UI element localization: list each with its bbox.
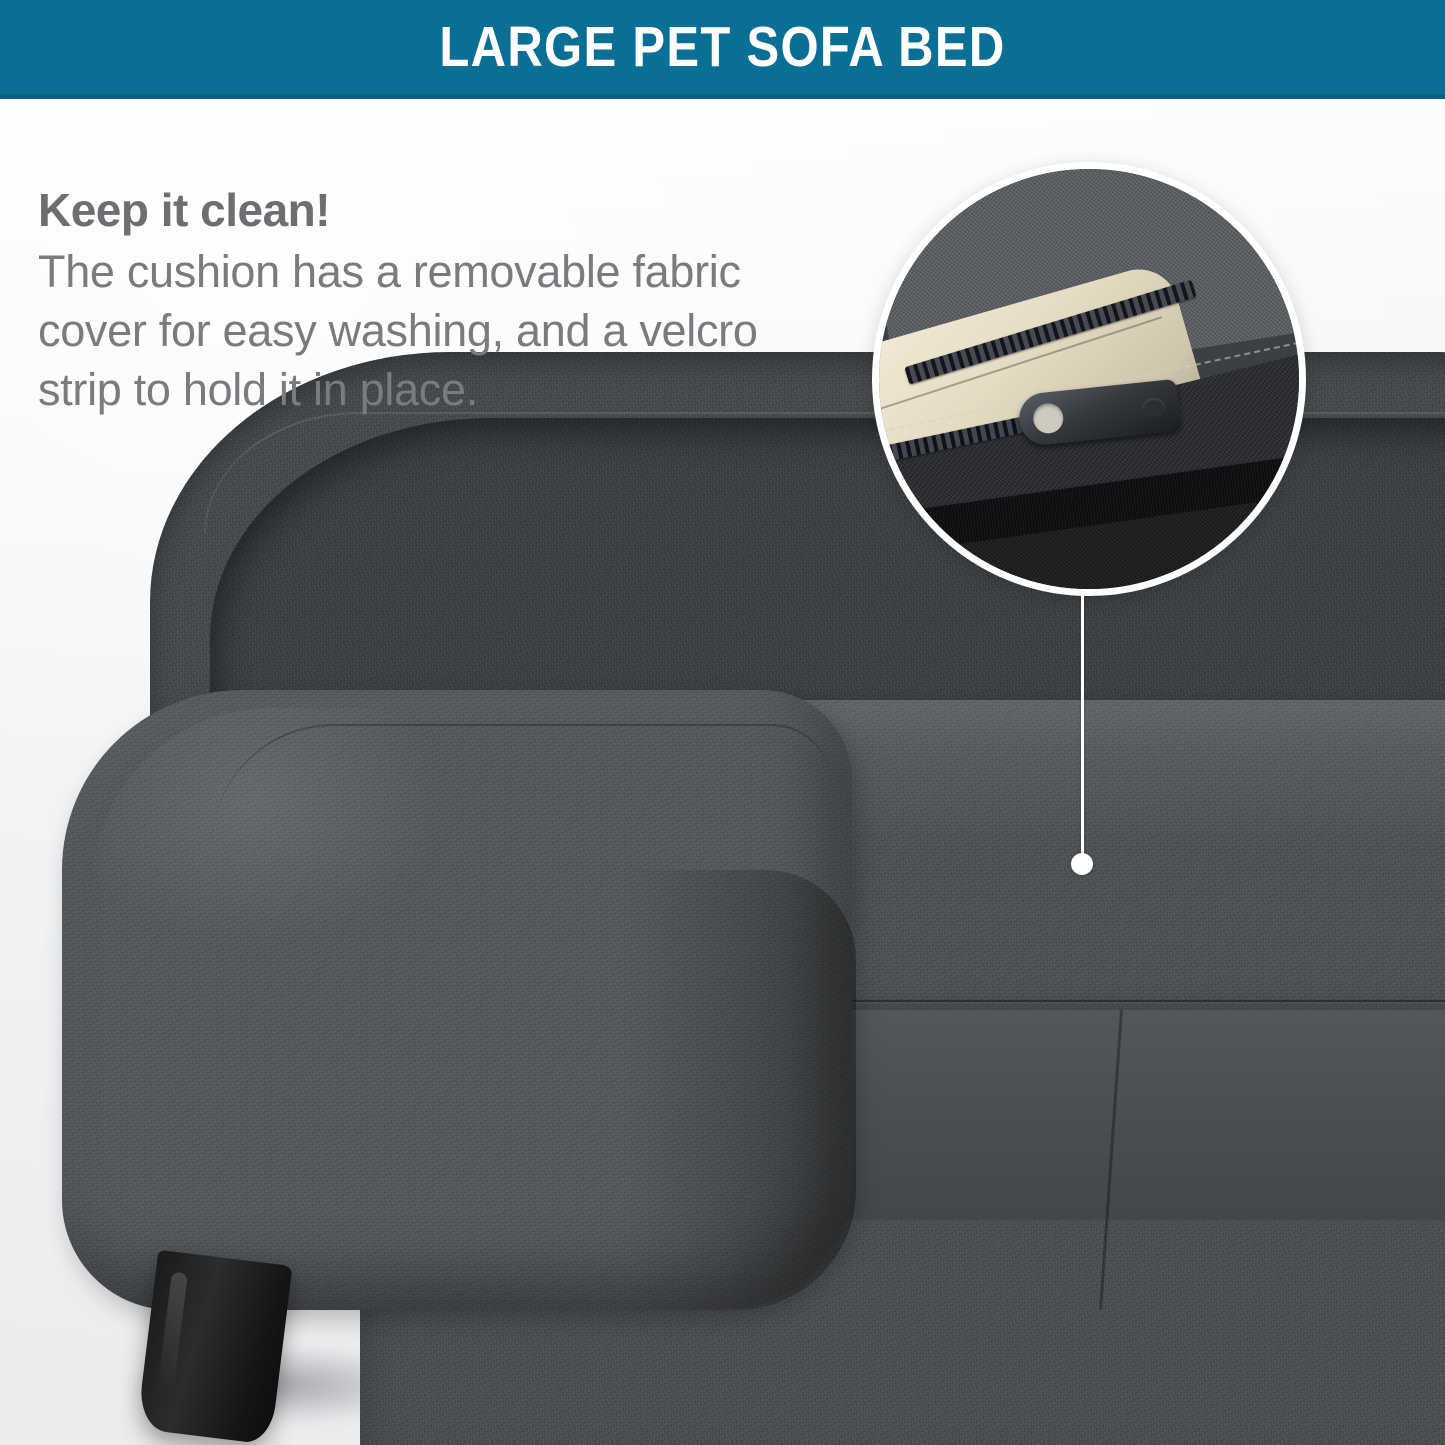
callout-zipper-pull-pin bbox=[1142, 397, 1166, 417]
callout-target-dot bbox=[1071, 853, 1093, 875]
callout-magnifier-circle bbox=[872, 162, 1306, 596]
product-infographic: LARGE PET SOFA BED Keep it clean! The cu… bbox=[0, 0, 1445, 1445]
feature-copy-block: Keep it clean! The cushion has a removab… bbox=[38, 186, 828, 420]
sofa-leg-highlight bbox=[157, 1272, 188, 1393]
callout-zipper-pull-eye bbox=[1032, 402, 1065, 435]
callout-leader-line bbox=[1081, 592, 1084, 860]
armrest-shadow bbox=[626, 870, 856, 1310]
sofa-armrest bbox=[62, 690, 852, 1310]
sofa-leg bbox=[137, 1250, 293, 1445]
feature-heading: Keep it clean! bbox=[38, 186, 828, 236]
armrest-crease bbox=[212, 724, 832, 846]
feature-body-text: The cushion has a removable fabric cover… bbox=[38, 242, 828, 420]
